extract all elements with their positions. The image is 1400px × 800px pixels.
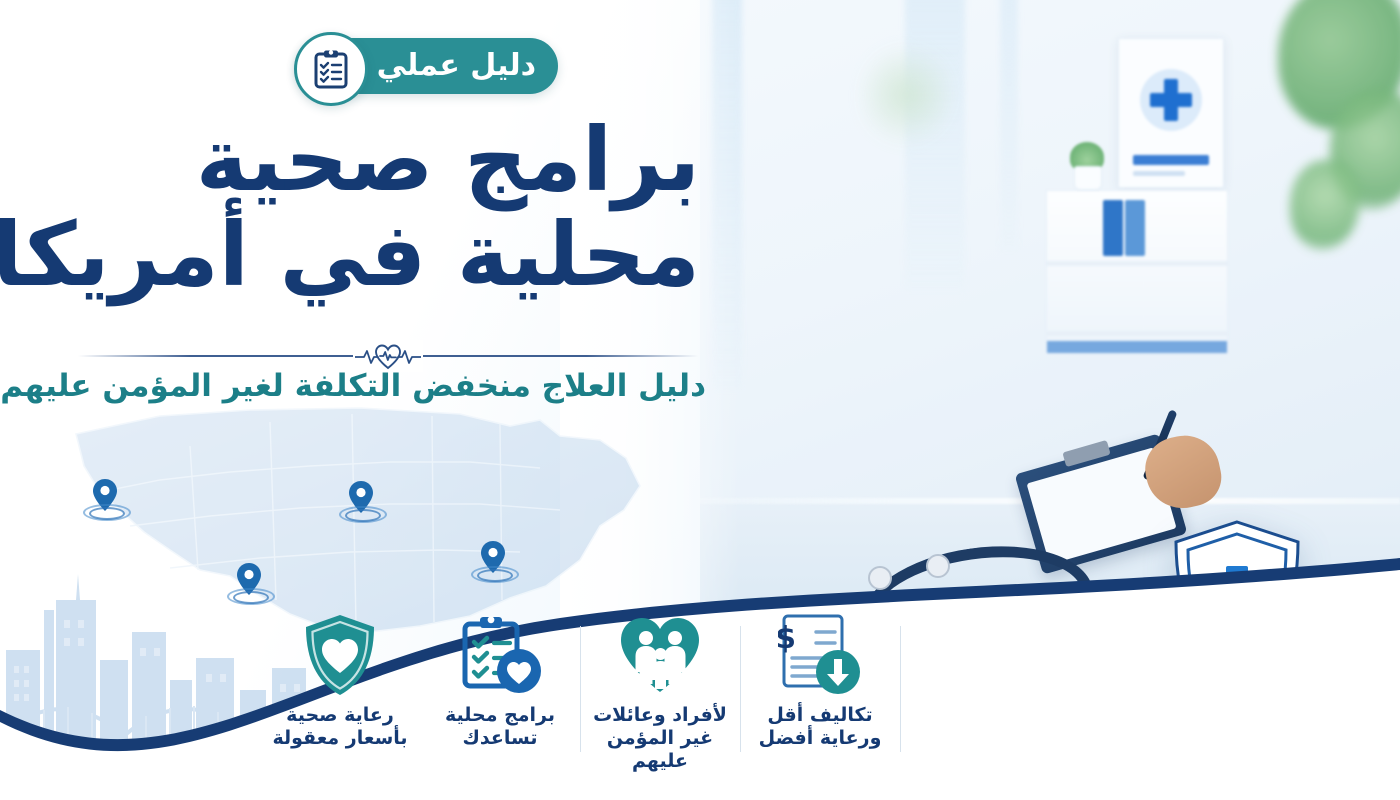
feature-icon-wrap	[303, 612, 377, 698]
feature-item-lower-costs[interactable]: $ تكاليف أقل ورعاية أفضل	[740, 612, 900, 750]
headline-divider	[78, 344, 698, 368]
feature-icon-wrap	[457, 612, 543, 698]
banner-canvas: Rx	[0, 0, 1400, 800]
headline-line-2: محلية في أمريكا	[60, 207, 700, 302]
headline-block: برامج صحية محلية في أمريكا	[60, 112, 700, 302]
heart-family-icon	[619, 616, 701, 694]
guide-badge-label: دليل عملي	[377, 51, 536, 81]
shelf-stripe	[1047, 341, 1227, 353]
guide-badge-icon-circle	[294, 32, 368, 106]
binder-icon	[1125, 200, 1145, 256]
window-pane	[1000, 0, 1018, 250]
feature-label: تكاليف أقل ورعاية أفضل	[759, 704, 882, 750]
headline-line-1: برامج صحية	[60, 112, 700, 207]
small-plant-icon	[1068, 138, 1106, 190]
feature-icon-wrap: $	[778, 612, 862, 698]
shelf-plank	[1047, 331, 1227, 336]
feature-item-uninsured-families[interactable]: لأفراد وعائلات غير المؤمن عليهم	[580, 612, 740, 774]
feature-icon-wrap	[619, 612, 701, 698]
feature-label: برامج محلية تساعدك	[445, 704, 555, 750]
cross-icon	[1150, 93, 1192, 107]
subtitle: دليل العلاج منخفض التكلفة لغير المؤمن عل…	[60, 368, 706, 404]
medical-cross-poster	[1118, 38, 1224, 188]
feature-item-affordable-care[interactable]: رعاية صحية بأسعار معقولة	[260, 612, 420, 750]
svg-text:$: $	[778, 621, 796, 656]
shelf-plank	[1047, 261, 1227, 266]
feature-label: لأفراد وعائلات غير المؤمن عليهم	[586, 704, 734, 774]
poster-bar	[1133, 171, 1185, 176]
clipboard-check-heart-icon	[457, 613, 543, 697]
heart-pulse-icon	[355, 342, 421, 370]
office-shelf	[1046, 190, 1228, 342]
poster-bar	[1133, 155, 1209, 165]
feature-item-local-programs[interactable]: برامج محلية تساعدك	[420, 612, 580, 750]
binder-icon	[1103, 200, 1123, 256]
clipboard-checklist-icon	[312, 49, 350, 89]
document-dollar-arrow-down-icon: $	[778, 612, 862, 698]
feature-strip: رعاية صحية بأسعار معقولة	[250, 612, 910, 792]
shield-heart-icon	[303, 613, 377, 697]
feature-label: رعاية صحية بأسعار معقولة	[272, 704, 407, 750]
plant-pot	[1074, 166, 1102, 190]
